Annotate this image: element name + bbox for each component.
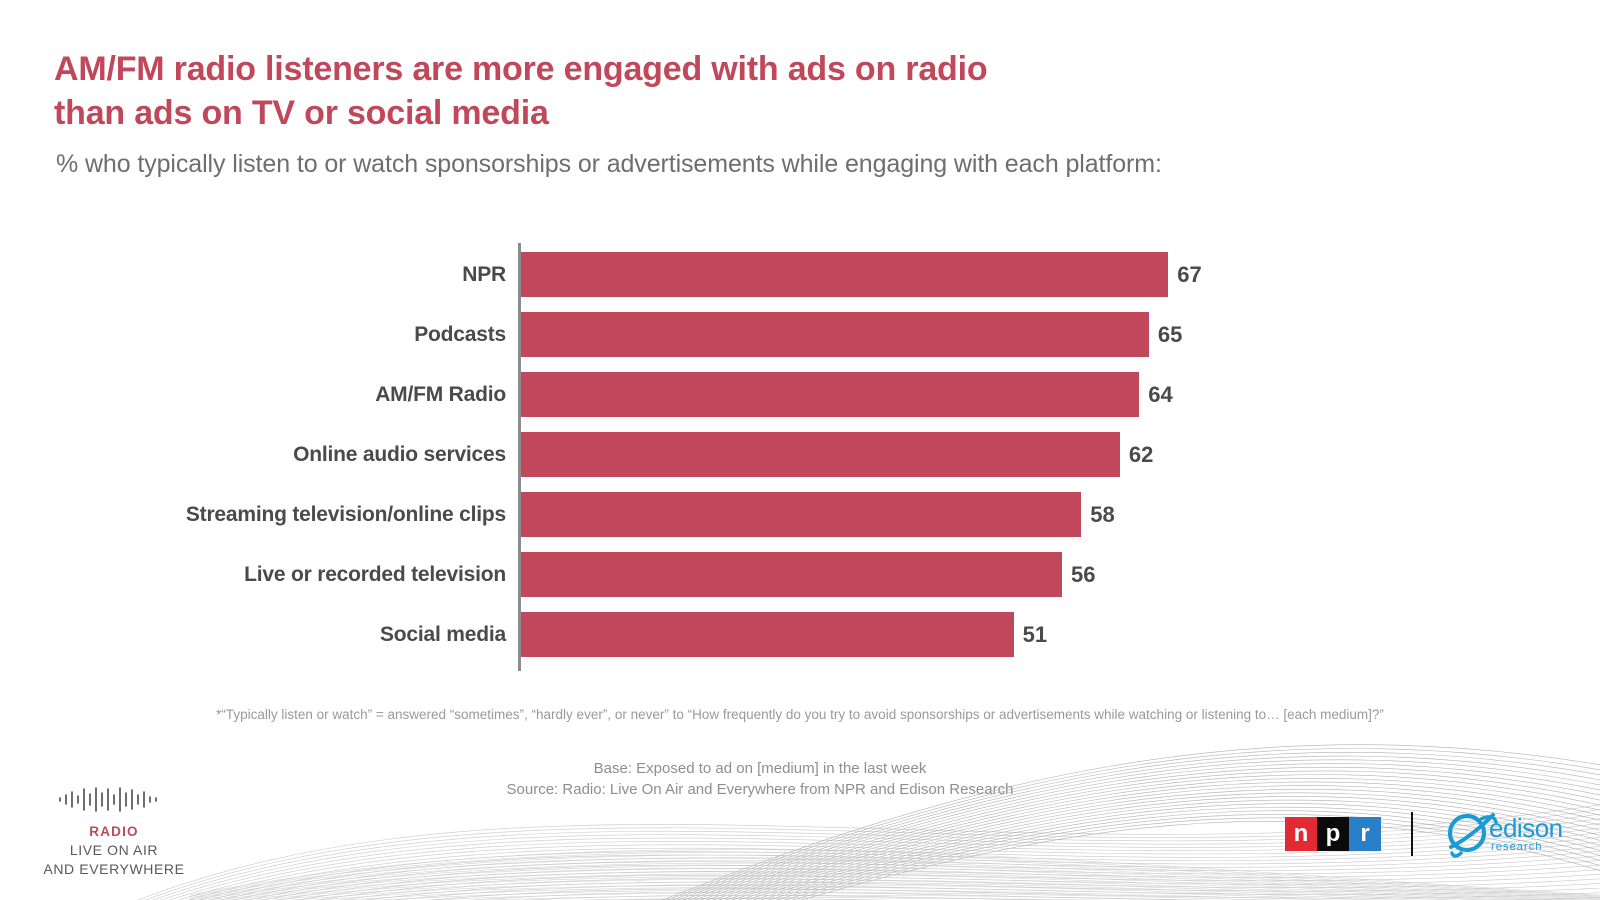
bar-category-label: AM/FM Radio [375,383,506,407]
radio-logo-word: RADIO [28,823,200,841]
bar-category-label: Social media [380,623,506,647]
logo-divider [1411,812,1413,856]
bar [521,372,1139,417]
bar-category-label: Online audio services [293,443,506,467]
bar-value-label: 58 [1090,502,1114,528]
bar-row: Streaming television/online clips58 [0,492,1600,537]
bar-row: Live or recorded television56 [0,552,1600,597]
bar [521,312,1149,357]
source-block: Base: Exposed to ad on [medium] in the l… [0,758,1520,801]
edison-logo-name: edison [1489,815,1563,841]
bar [521,252,1168,297]
page-title-line-1: AM/FM radio listeners are more engaged w… [54,48,1254,92]
bar [521,432,1120,477]
bar-chart: NPR67Podcasts65AM/FM Radio64Online audio… [0,243,1600,673]
audio-waveform-icon [54,786,174,812]
edison-research-logo: edison research [1441,809,1563,859]
page-title-line-2: than ads on TV or social media [54,92,1254,136]
radio-brand-logo: RADIO LIVE ON AIR AND EVERYWHERE [28,786,200,878]
bar [521,612,1014,657]
npr-letter-p: p [1317,817,1349,851]
bar-category-label: Podcasts [414,323,506,347]
npr-logo: n p r [1285,817,1381,851]
bar-row: AM/FM Radio64 [0,372,1600,417]
base-text: Base: Exposed to ad on [medium] in the l… [0,758,1520,779]
bar-row: NPR67 [0,252,1600,297]
page-subtitle: % who typically listen to or watch spons… [56,150,1456,179]
edison-logo-sub: research [1491,842,1563,853]
npr-letter-r: r [1349,817,1381,851]
bar-category-label: NPR [462,263,506,287]
bar-category-label: Streaming television/online clips [186,503,506,527]
bar-value-label: 51 [1023,622,1047,648]
bar-value-label: 64 [1148,382,1172,408]
npr-letter-n: n [1285,817,1317,851]
source-text: Source: Radio: Live On Air and Everywher… [0,779,1520,800]
bar-value-label: 65 [1158,322,1182,348]
partner-logos: n p r edison research [1285,810,1563,858]
radio-logo-tagline-2: AND EVERYWHERE [28,860,200,878]
bar-row: Podcasts65 [0,312,1600,357]
bar-category-label: Live or recorded television [244,563,506,587]
bar-value-label: 67 [1177,262,1201,288]
bar-value-label: 62 [1129,442,1153,468]
page-title: AM/FM radio listeners are more engaged w… [54,48,1254,135]
bar-value-label: 56 [1071,562,1095,588]
radio-logo-tagline-1: LIVE ON AIR [28,841,200,859]
bar [521,552,1062,597]
bar-row: Social media51 [0,612,1600,657]
chart-footnote: *“Typically listen or watch” = answered … [0,707,1600,722]
bar-row: Online audio services62 [0,432,1600,477]
bar [521,492,1081,537]
